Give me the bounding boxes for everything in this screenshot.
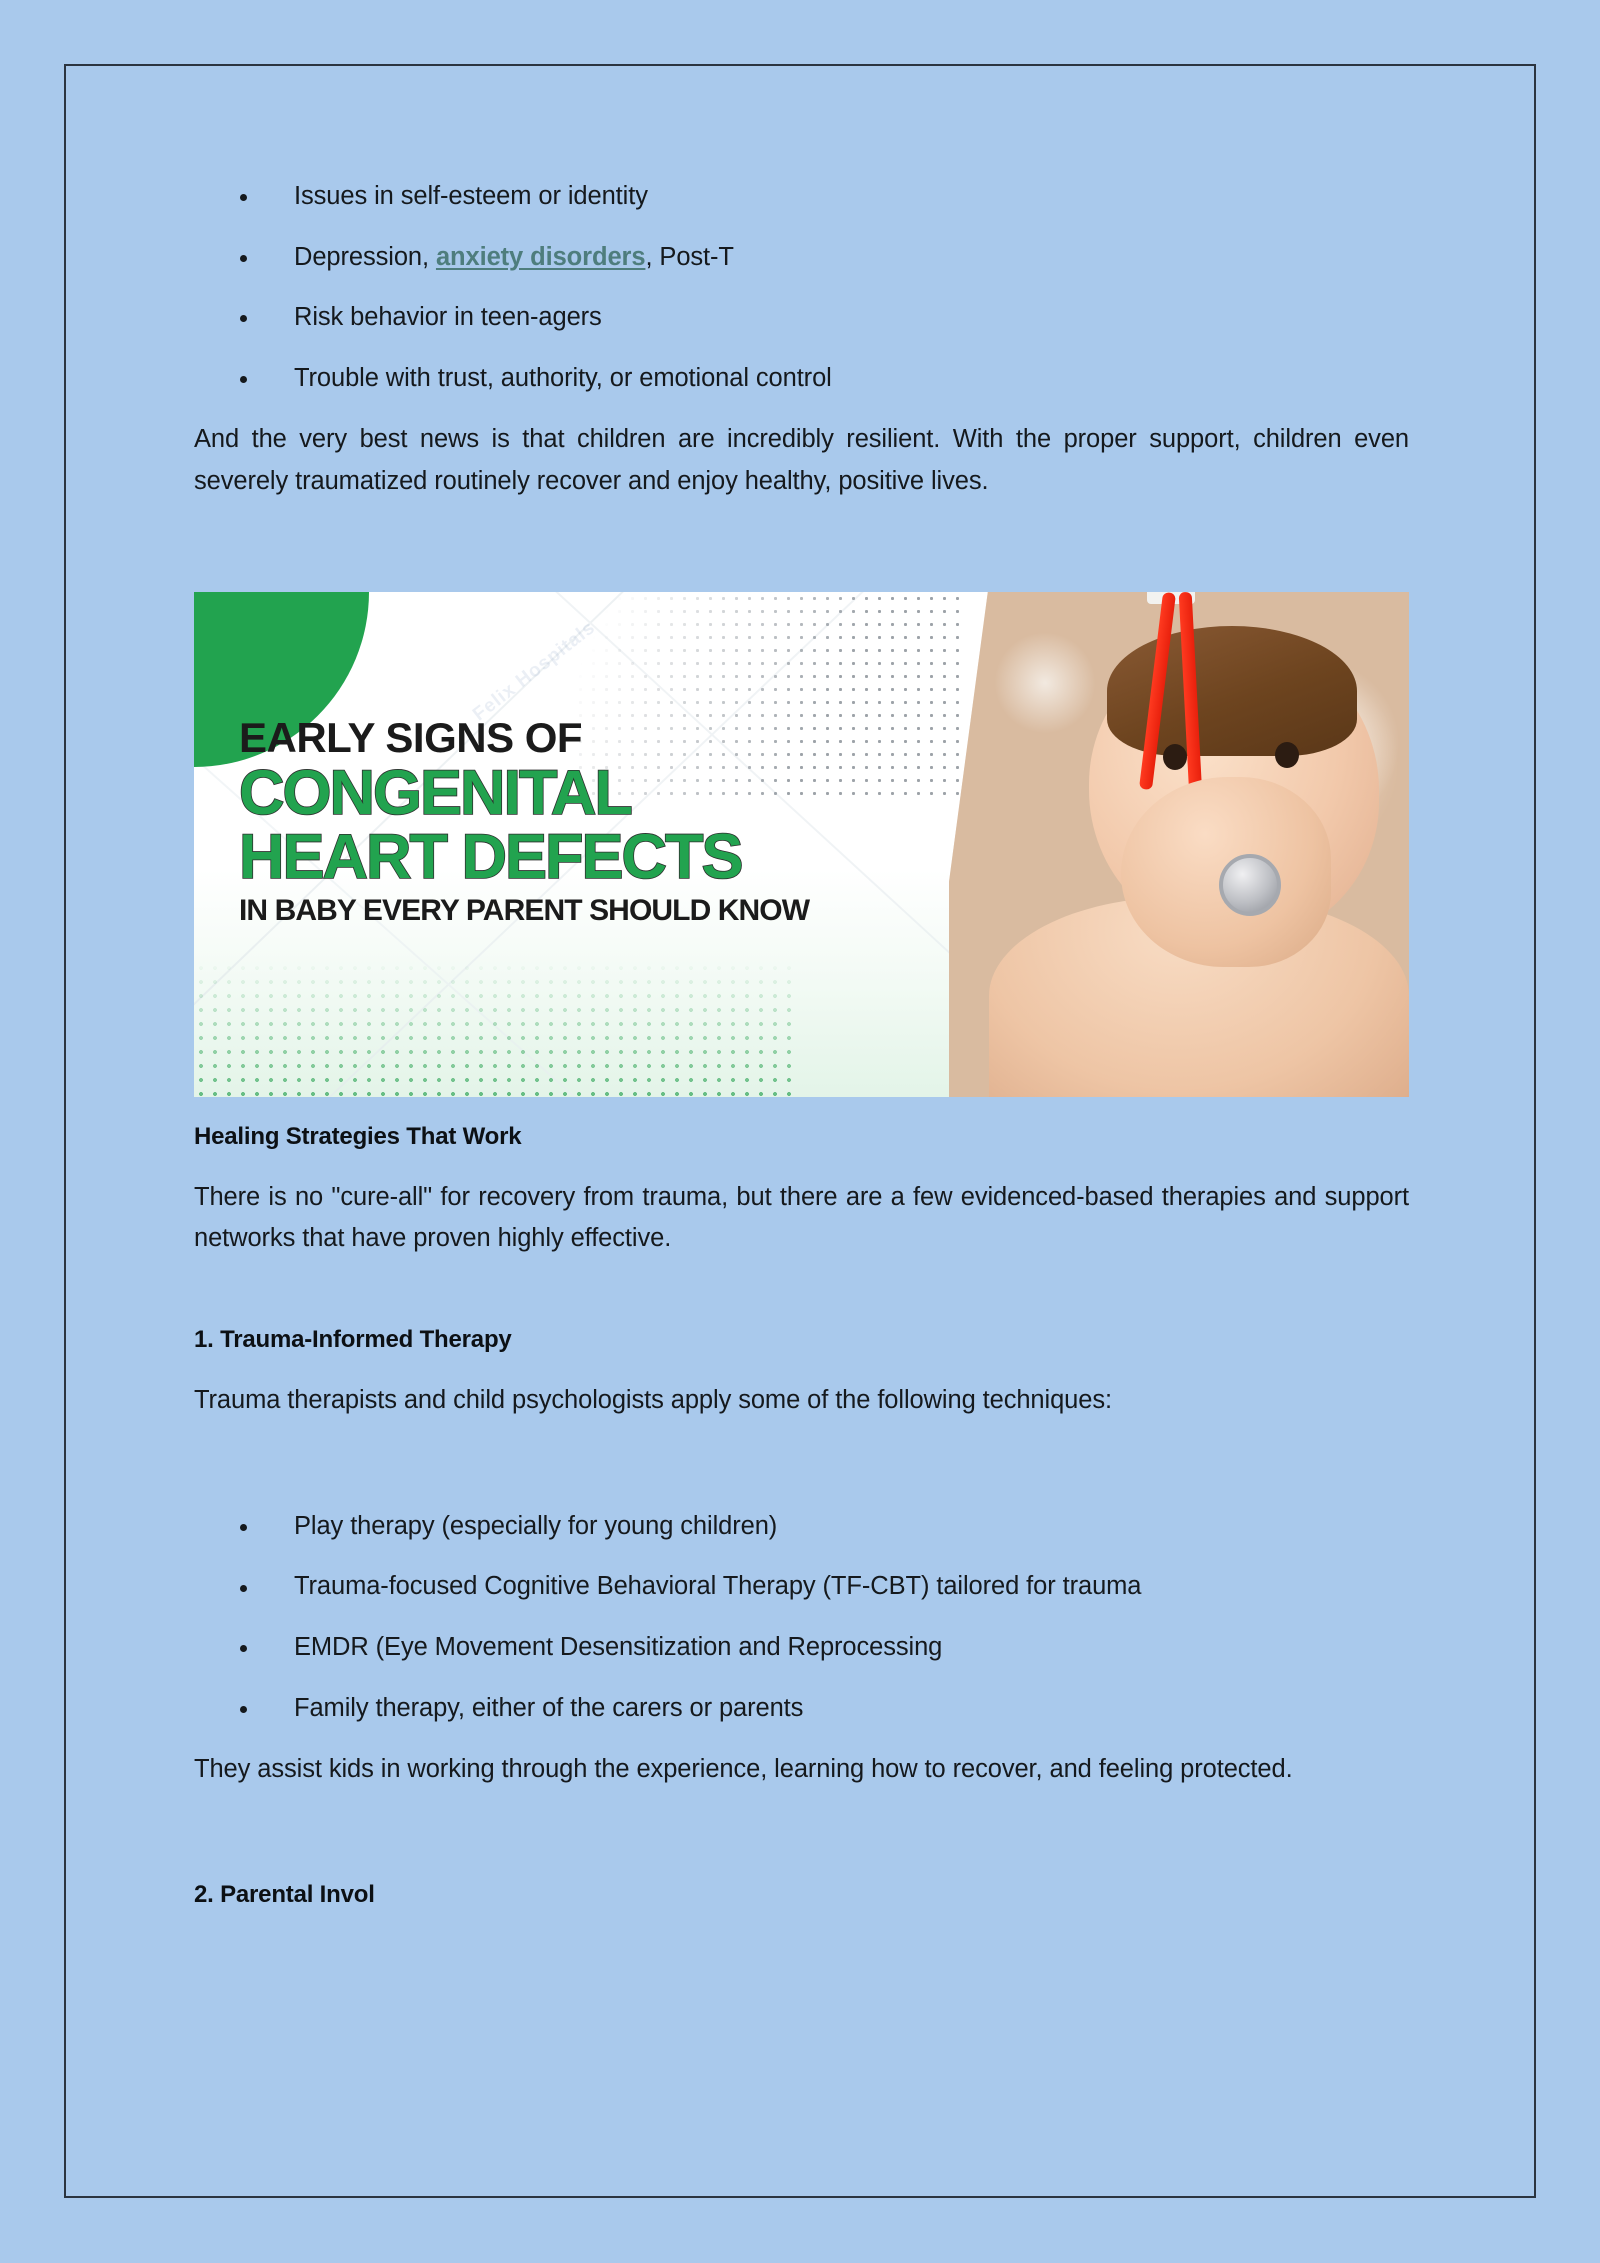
spacer: [194, 1260, 1409, 1326]
anxiety-disorders-link[interactable]: anxiety disorders: [436, 243, 645, 271]
list-item: EMDR (Eye Movement Desensitization and R…: [194, 1632, 1409, 1663]
list-item-label: Trauma-focused Cognitive Behavioral Ther…: [294, 1572, 1141, 1600]
list-item: Issues in self-esteem or identity: [194, 181, 1409, 212]
list-item-prefix: Depression,: [294, 243, 436, 271]
list-item-label: Play therapy (especially for young child…: [294, 1512, 777, 1540]
bullet-dot-icon: [240, 376, 247, 383]
bullet-dot-icon: [240, 255, 247, 262]
banner-headline-group: EARLY SIGNS OF CONGENITAL HEART DEFECTS …: [239, 717, 859, 926]
halftone-dots-green-decoration: [194, 947, 794, 1097]
bullet-dot-icon: [240, 194, 247, 201]
spacer: [194, 1097, 1409, 1123]
list-item: Risk behavior in teen-agers: [194, 302, 1409, 333]
list-item: Depression, anxiety disorders, Post-T: [194, 242, 1409, 273]
resilience-paragraph: And the very best news is that children …: [194, 419, 1409, 502]
bullet-dot-icon: [240, 1645, 247, 1652]
section-one-intro: Trauma therapists and child psychologist…: [194, 1380, 1409, 1421]
symptoms-bullet-list: Issues in self-esteem or identity Depres…: [194, 181, 1409, 393]
spacer: [194, 502, 1409, 592]
spacer: [194, 1421, 1409, 1511]
bullet-dot-icon: [240, 315, 247, 322]
techniques-bullet-list: Play therapy (especially for young child…: [194, 1511, 1409, 1723]
stethoscope-chestpiece-icon: [1219, 854, 1281, 916]
banner-title-line-1: CONGENITAL: [239, 762, 859, 824]
list-item-label: Risk behavior in teen-agers: [294, 303, 602, 331]
bullet-dot-icon: [240, 1706, 247, 1713]
section-two-heading: 2. Parental Invol: [194, 1881, 1409, 1909]
list-item-label: Issues in self-esteem or identity: [294, 182, 648, 210]
healing-strategies-paragraph: There is no "cure-all" for recovery from…: [194, 1177, 1409, 1260]
list-item: Family therapy, either of the carers or …: [194, 1693, 1409, 1724]
list-item-suffix: , Post-T: [645, 243, 733, 271]
list-item-label: EMDR (Eye Movement Desensitization and R…: [294, 1633, 942, 1661]
spacer: [194, 1354, 1409, 1380]
baby-stethoscope-photo: [889, 592, 1409, 1097]
bullet-dot-icon: [240, 1585, 247, 1592]
spacer: [194, 1151, 1409, 1177]
healing-strategies-heading: Healing Strategies That Work: [194, 1123, 1409, 1151]
list-item: Trouble with trust, authority, or emotio…: [194, 363, 1409, 394]
spacer: [194, 393, 1409, 419]
section-one-closing: They assist kids in working through the …: [194, 1749, 1409, 1790]
spacer: [194, 1723, 1409, 1749]
congenital-heart-defects-banner-image: Felix Hospitals EARLY SIGNS OF CONGENITA…: [194, 592, 1409, 1097]
section-one-heading: 1. Trauma-Informed Therapy: [194, 1326, 1409, 1354]
banner-subtitle: IN BABY EVERY PARENT SHOULD KNOW: [239, 895, 859, 927]
document-content: Issues in self-esteem or identity Depres…: [194, 181, 1409, 1909]
baby-eye-right: [1275, 742, 1299, 768]
list-item-label: Trouble with trust, authority, or emotio…: [294, 364, 832, 392]
bullet-dot-icon: [240, 1524, 247, 1531]
list-item-label: Family therapy, either of the carers or …: [294, 1694, 803, 1722]
banner-kicker: EARLY SIGNS OF: [239, 717, 859, 760]
baby-eye-left: [1163, 744, 1187, 770]
page-border-frame: Issues in self-esteem or identity Depres…: [64, 64, 1536, 2198]
banner-title-line-2: HEART DEFECTS: [239, 826, 859, 888]
list-item: Play therapy (especially for young child…: [194, 1511, 1409, 1542]
list-item: Trauma-focused Cognitive Behavioral Ther…: [194, 1571, 1409, 1602]
spacer: [194, 1791, 1409, 1881]
